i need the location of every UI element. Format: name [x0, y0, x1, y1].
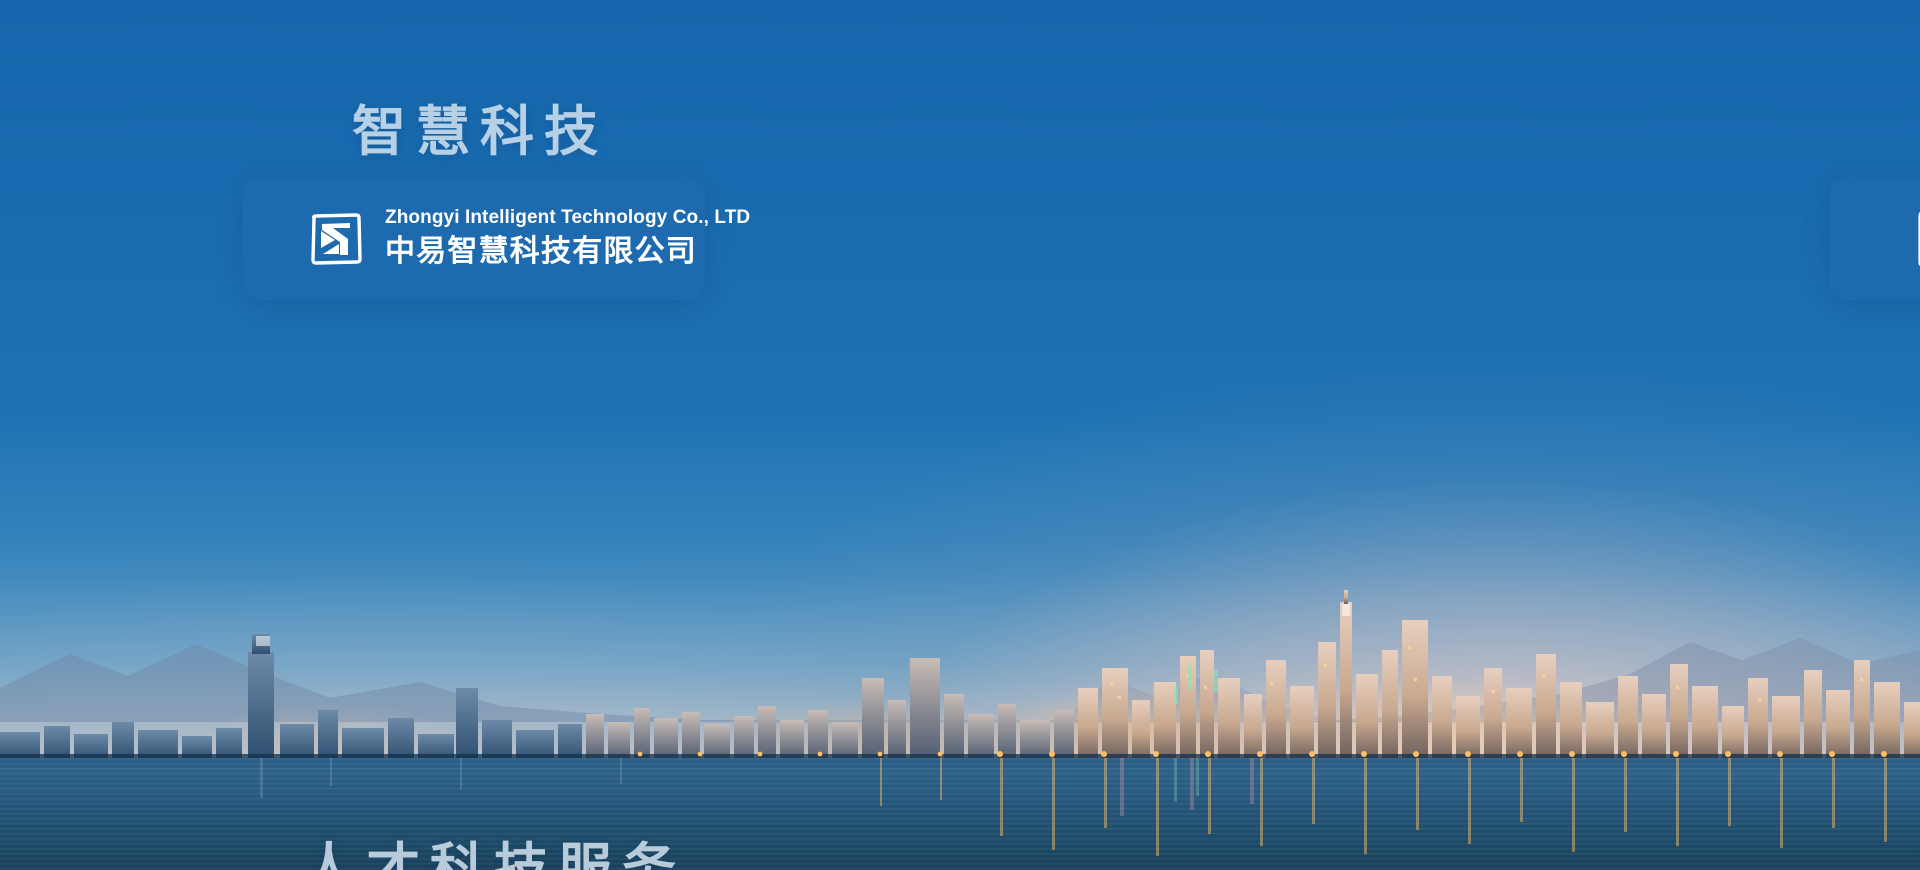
segment-estate: 房地产开发 Yanxiang real estate development C…	[960, 435, 1920, 870]
segment-heading-tech: 智慧科技	[352, 105, 608, 159]
segment-fmcg: 快消品	[960, 0, 1920, 435]
segment-talent: 人才科技服务 NY Any technology development Co.…	[0, 435, 960, 870]
company-name-en: Zhongyi Intelligent Technology Co., LTD	[385, 206, 750, 230]
segments-grid: 智慧科技 Zhongyi Intelligent Technology Co.,…	[0, 0, 1920, 870]
company-card-zhongyi[interactable]: Zhongyi Intelligent Technology Co., LTD …	[243, 177, 705, 300]
segment-heading-talent: 人才科技服务	[302, 842, 686, 870]
zhongyi-z-mark-icon	[309, 212, 363, 266]
company-card-yanxiang-trading[interactable]: ® Yanxiang trading Co., LTD 砚香贸易有限公司	[1829, 177, 1920, 300]
company-name-cn: 中易智慧科技有限公司	[385, 232, 750, 271]
page-stage: 智慧科技 Zhongyi Intelligent Technology Co.,…	[0, 0, 1920, 870]
segment-tech: 智慧科技 Zhongyi Intelligent Technology Co.,…	[0, 0, 960, 435]
company-names-zhongyi: Zhongyi Intelligent Technology Co., LTD …	[385, 206, 750, 272]
